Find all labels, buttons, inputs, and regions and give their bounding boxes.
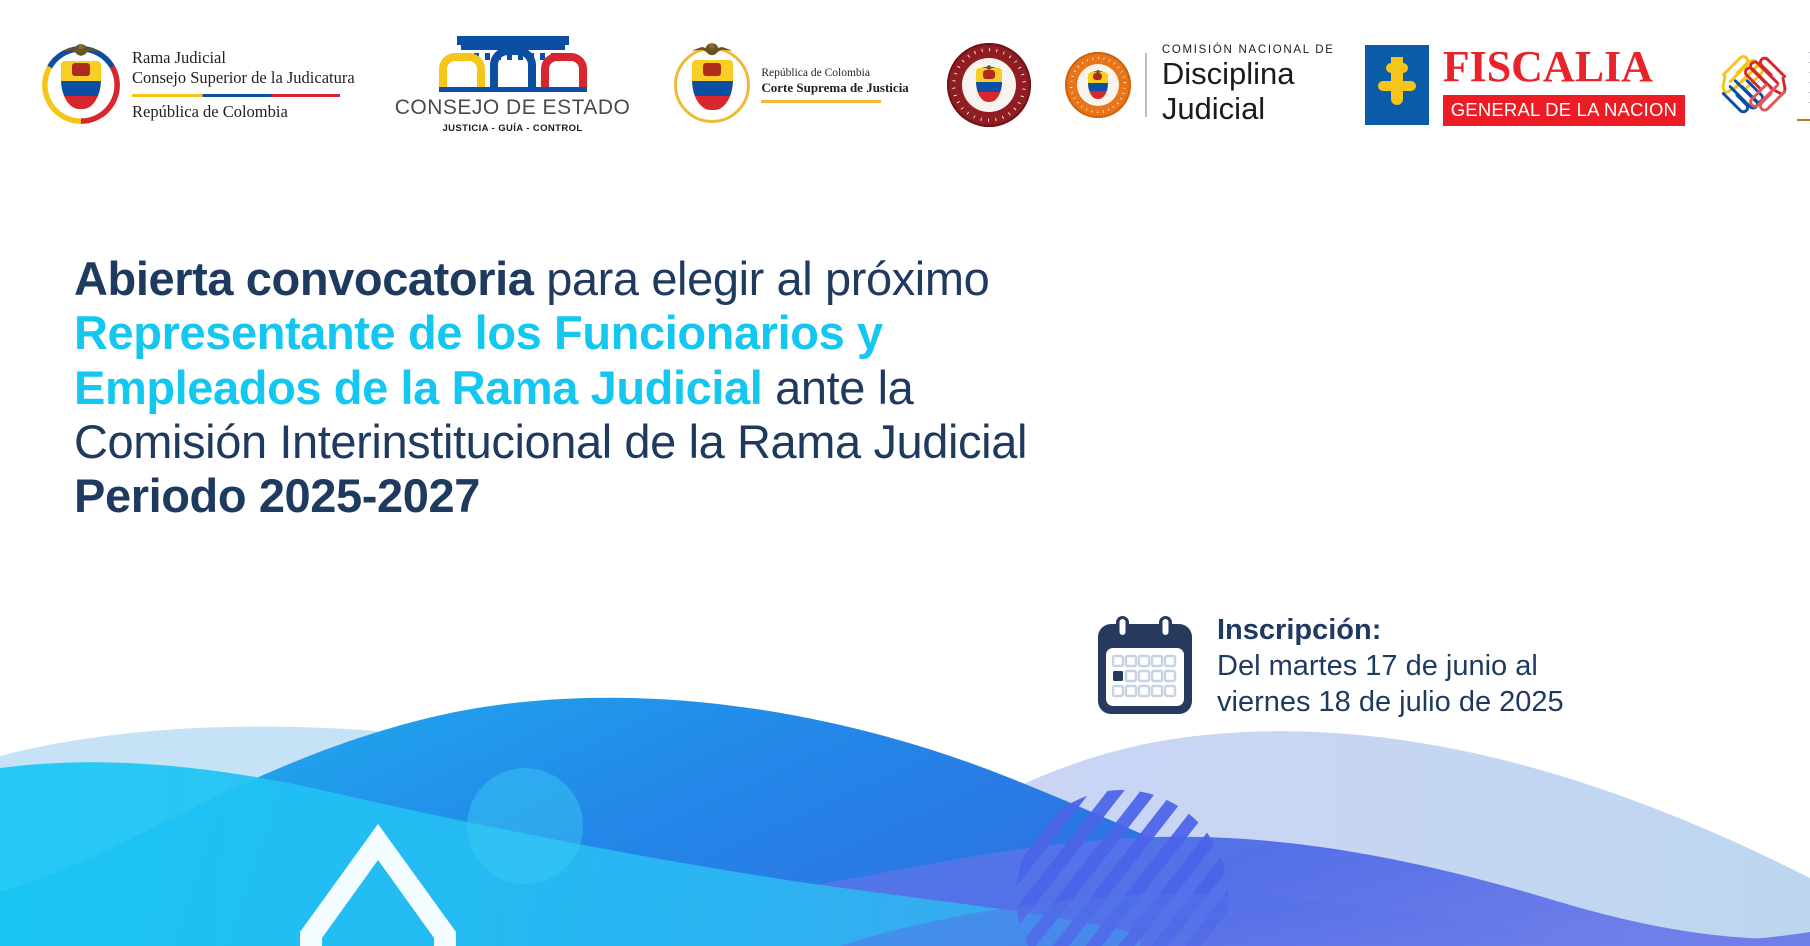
puzzle-piece-icon bbox=[1377, 57, 1417, 113]
condor-icon bbox=[978, 63, 1000, 73]
gold-rule bbox=[761, 100, 881, 103]
headline-line-2: Representante de los Funcionarios y bbox=[74, 306, 1027, 360]
logo-corte-constitucional bbox=[947, 43, 1031, 127]
logo-corte-suprema-de-justicia: República de Colombia Corte Suprema de J… bbox=[674, 47, 908, 123]
condor-icon bbox=[1089, 68, 1106, 76]
tricolor-rule bbox=[132, 94, 340, 97]
rama-line-2: Consejo Superior de la Judicatura bbox=[132, 68, 355, 88]
logo-consejo-de-estado: CONSEJO DE ESTADO JUSTICIA - GUÍA - CONT… bbox=[395, 36, 631, 134]
inscription-title: Inscripción: bbox=[1217, 613, 1564, 649]
headline-line-1-rest: para elegir al próximo bbox=[534, 252, 990, 305]
fiscalia-emblem bbox=[1365, 45, 1429, 125]
consejo-estado-title: CONSEJO DE ESTADO bbox=[395, 96, 631, 120]
suprema-line-1: República de Colombia bbox=[761, 67, 908, 79]
disciplina-kicker: COMISIÓN NACIONAL DE bbox=[1162, 44, 1335, 56]
condor-icon bbox=[682, 40, 742, 61]
decorative-wave-graphic bbox=[0, 646, 1810, 946]
corte-suprema-text: República de Colombia Corte Suprema de J… bbox=[761, 67, 908, 103]
headline-line-4: Comisión Interinstitucional de la Rama J… bbox=[74, 415, 1027, 469]
circle-accent bbox=[467, 768, 583, 884]
headline-line-1: Abierta convocatoria para elegir al próx… bbox=[74, 252, 1027, 306]
headline-line-3: Empleados de la Rama Judicial ante la bbox=[74, 361, 1027, 415]
consejo-estado-subtitle: JUSTICIA - GUÍA - CONTROL bbox=[442, 123, 582, 134]
logo-fiscalia-general-de-la-nacion: FISCALIA GENERAL DE LA NACION bbox=[1365, 45, 1685, 126]
fiscalia-wordmark: FISCALIA GENERAL DE LA NACION bbox=[1443, 45, 1685, 126]
rama-line-3: República de Colombia bbox=[132, 102, 355, 122]
gold-rule bbox=[1797, 119, 1810, 122]
condor-icon bbox=[52, 41, 110, 61]
colombia-shield-icon bbox=[42, 46, 120, 124]
headline-bold-lead: Abierta convocatoria bbox=[74, 252, 534, 305]
headline: Abierta convocatoria para elegir al próx… bbox=[74, 252, 1027, 523]
fiscalia-bar: GENERAL DE LA NACION bbox=[1443, 95, 1685, 126]
logo-rama-judicial: Rama Judicial Consejo Superior de la Jud… bbox=[42, 46, 355, 124]
disciplina-judicial-text: COMISIÓN NACIONAL DE Disciplina Judicial bbox=[1162, 44, 1335, 126]
classical-building-icon bbox=[439, 36, 587, 92]
institution-logo-strip: Rama Judicial Consejo Superior de la Jud… bbox=[0, 0, 1810, 170]
headline-line-5: Periodo 2025-2027 bbox=[74, 469, 1027, 523]
fiscalia-word: FISCALIA bbox=[1443, 45, 1685, 89]
constitutional-court-seal-icon bbox=[947, 43, 1031, 127]
representante-text-block: REPRESENTANTE DE FUNCIONARIOS Y EMPLEADO… bbox=[1797, 49, 1810, 122]
disciplina-judicial-seal-icon bbox=[1065, 52, 1131, 118]
poster-canvas: Rama Judicial Consejo Superior de la Jud… bbox=[0, 0, 1810, 946]
suprema-line-2: Corte Suprema de Justicia bbox=[761, 80, 908, 96]
disciplina-line-2: Judicial bbox=[1162, 93, 1335, 126]
disciplina-line-1: Disciplina bbox=[1162, 58, 1335, 91]
headline-cyan-1: Representante de los Funcionarios y bbox=[74, 306, 883, 359]
colombia-shield-icon bbox=[674, 47, 750, 123]
vertical-divider bbox=[1145, 53, 1147, 117]
headline-cyan-2: Empleados de la Rama Judicial bbox=[74, 361, 762, 414]
headline-line-3-rest: ante la bbox=[762, 361, 913, 414]
logo-comision-nacional-disciplina-judicial: COMISIÓN NACIONAL DE Disciplina Judicial bbox=[1065, 44, 1335, 126]
rama-judicial-text: Rama Judicial Consejo Superior de la Jud… bbox=[132, 48, 355, 121]
rama-line-1: Rama Judicial bbox=[132, 48, 355, 68]
interlocking-hands-icon bbox=[1711, 39, 1797, 131]
logo-representante-funcionarios-empleados: REPRESENTANTE DE FUNCIONARIOS Y EMPLEADO… bbox=[1711, 39, 1810, 131]
